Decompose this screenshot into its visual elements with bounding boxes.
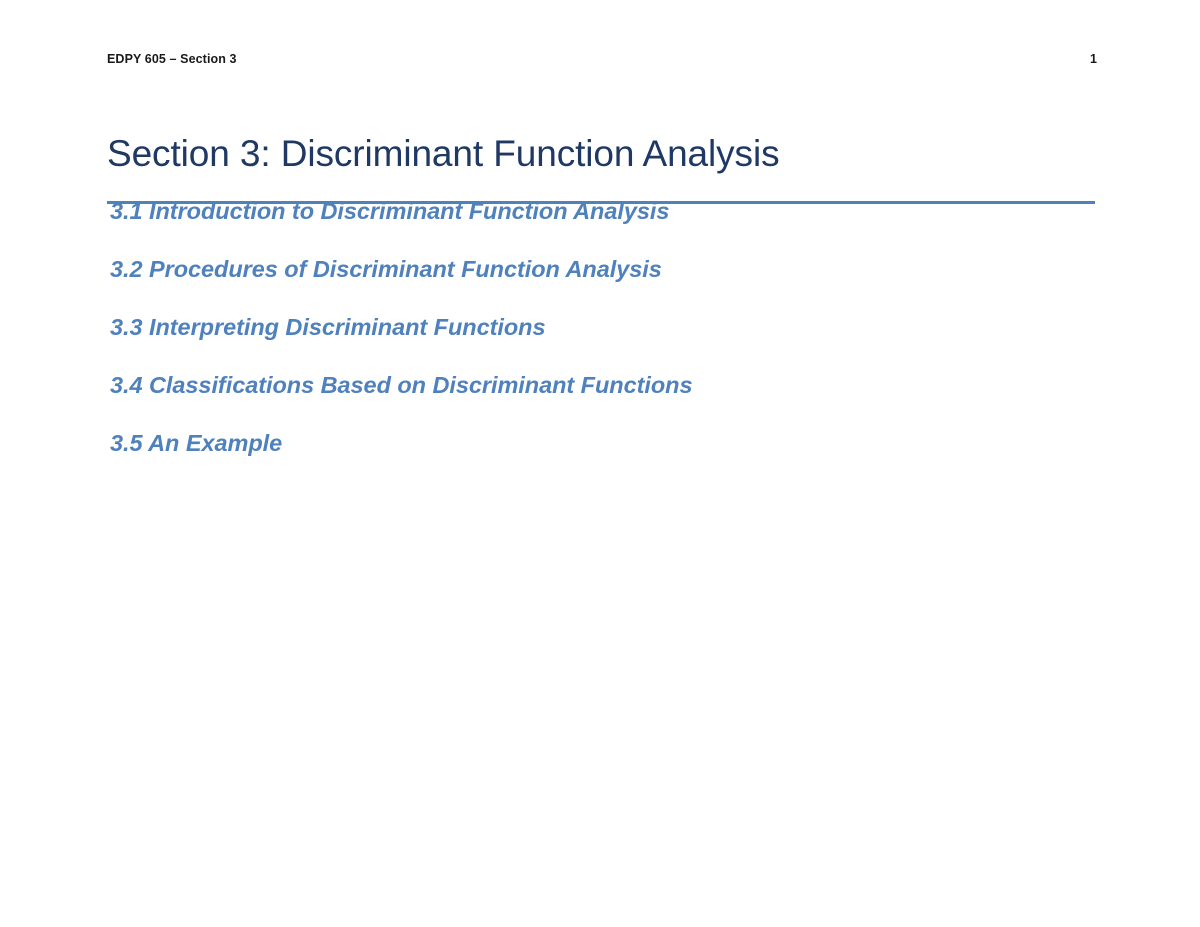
toc-item-label: 3.5 An Example	[110, 430, 282, 456]
toc-item-label: 3.4 Classifications Based on Discriminan…	[110, 372, 692, 398]
table-of-contents: 3.1 Introduction to Discriminant Functio…	[110, 200, 1110, 490]
header-course-label: EDPY 605 – Section 3	[107, 52, 237, 66]
page-title: Section 3: Discriminant Function Analysi…	[107, 131, 1095, 176]
running-header: EDPY 605 – Section 3 1	[107, 52, 1095, 72]
list-item[interactable]: 3.1 Introduction to Discriminant Functio…	[110, 200, 1110, 258]
list-item[interactable]: 3.2 Procedures of Discriminant Function …	[110, 258, 1110, 316]
list-item[interactable]: 3.3 Interpreting Discriminant Functions	[110, 316, 1110, 374]
list-item[interactable]: 3.4 Classifications Based on Discriminan…	[110, 374, 1110, 432]
document-page: EDPY 605 – Section 3 1 Section 3: Discri…	[0, 0, 1200, 927]
title-block: Section 3: Discriminant Function Analysi…	[107, 106, 1095, 204]
page-number: 1	[1090, 52, 1097, 66]
list-item[interactable]: 3.5 An Example	[110, 432, 1110, 490]
toc-item-label: 3.2 Procedures of Discriminant Function …	[110, 256, 662, 282]
toc-item-label: 3.1 Introduction to Discriminant Functio…	[110, 198, 669, 224]
toc-item-label: 3.3 Interpreting Discriminant Functions	[110, 314, 545, 340]
